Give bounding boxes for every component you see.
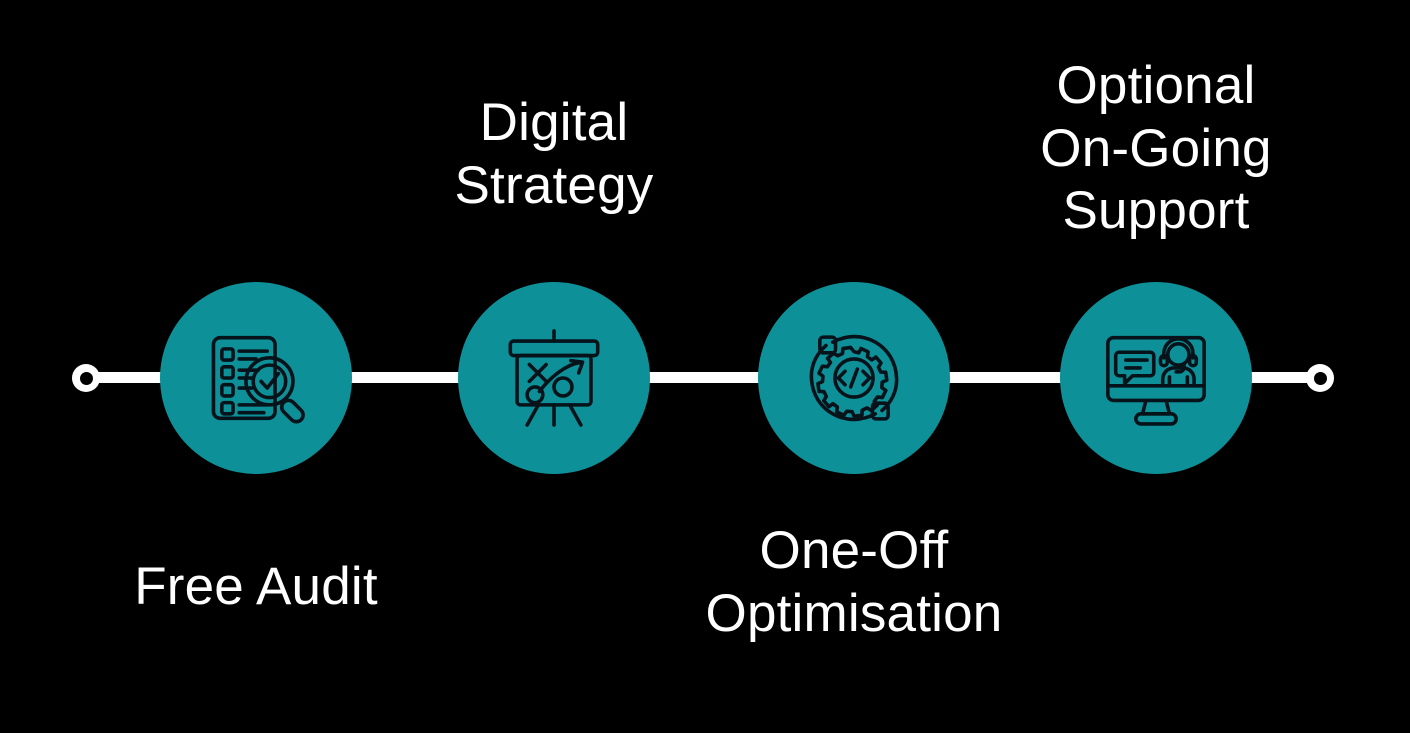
monitor-support-agent-icon xyxy=(1100,322,1212,434)
step-node-2[interactable] xyxy=(458,282,650,474)
step-label-3: One-Off Optimisation xyxy=(654,520,1054,645)
rail-segment-end xyxy=(1246,372,1320,383)
process-diagram: Free Audit Digital Strategy One-Off Opti… xyxy=(0,0,1410,733)
step-label-1: Free Audit xyxy=(56,556,456,619)
rail-segment-1-2 xyxy=(346,372,464,383)
rail-segment-start xyxy=(96,372,170,383)
rail-segment-3-4 xyxy=(946,372,1064,383)
left-endpoint-ring xyxy=(72,364,100,392)
step-node-4[interactable] xyxy=(1060,282,1252,474)
step-node-1[interactable] xyxy=(160,282,352,474)
strategy-board-icon xyxy=(498,322,610,434)
rail-segment-2-3 xyxy=(646,372,764,383)
step-label-4: Optional On-Going Support xyxy=(956,55,1356,243)
clipboard-checklist-magnifier-icon xyxy=(200,322,312,434)
step-label-2: Digital Strategy xyxy=(354,92,754,217)
step-node-3[interactable] xyxy=(758,282,950,474)
gear-code-refresh-icon xyxy=(798,322,910,434)
right-endpoint-ring xyxy=(1306,364,1334,392)
